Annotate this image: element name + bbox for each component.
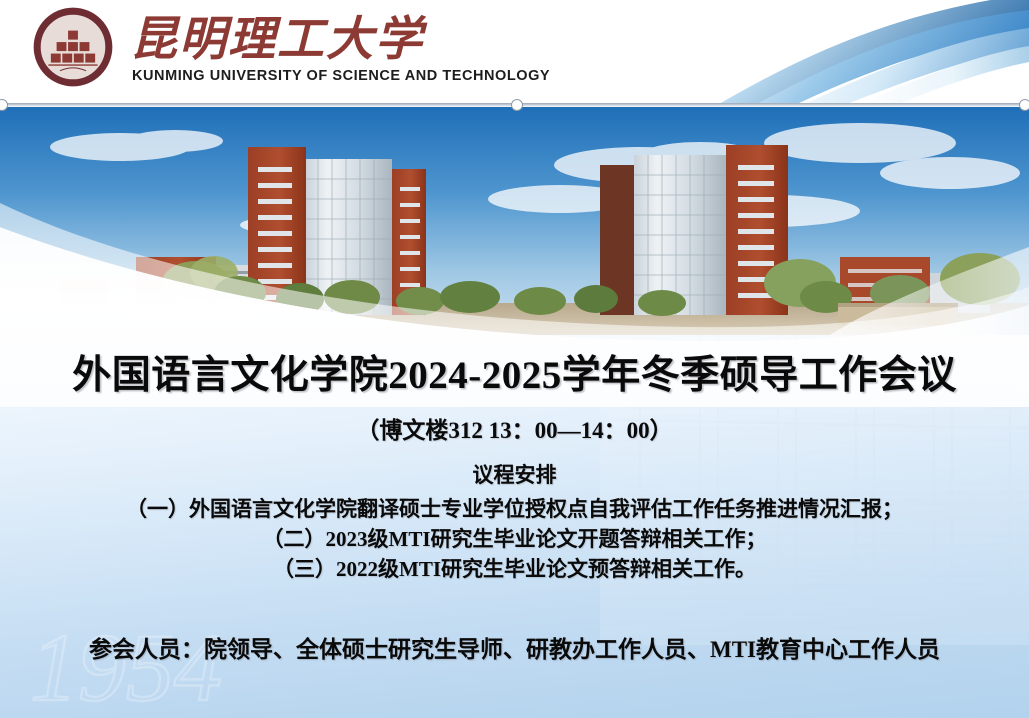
header-ribbon-decoration — [569, 0, 1029, 104]
list-item: （三）2022级MTI研究生毕业论文预答辩相关工作。 — [0, 554, 1029, 584]
university-wordmark: 昆明理工大学 KUNMING UNIVERSITY OF SCIENCE AND… — [124, 10, 550, 84]
university-name-cn-text: 昆明理工大学 — [130, 14, 428, 66]
university-crest-icon — [32, 6, 114, 88]
university-name-en: KUNMING UNIVERSITY OF SCIENCE AND TECHNO… — [132, 68, 550, 84]
university-logo-block: 昆明理工大学 KUNMING UNIVERSITY OF SCIENCE AND… — [32, 6, 550, 88]
list-item: （一）外国语言文化学院翻译硕士专业学位授权点自我评估工作任务推进情况汇报； — [0, 494, 1029, 524]
attendees-line: 参会人员：院领导、全体硕士研究生导师、研教办工作人员、MTI教育中心工作人员 — [0, 630, 1029, 664]
eyelet-right-icon — [1019, 99, 1029, 111]
agenda-heading: 议程安排 — [0, 459, 1029, 489]
campus-photo-banner — [0, 107, 1029, 335]
presentation-slide: 图 馆 1954 — [0, 0, 1029, 718]
page-title: 外国语言文化学院2024-2025学年冬季硕导工作会议 — [0, 344, 1029, 400]
slide-header: 昆明理工大学 KUNMING UNIVERSITY OF SCIENCE AND… — [0, 0, 1029, 104]
agenda-list: （一）外国语言文化学院翻译硕士专业学位授权点自我评估工作任务推进情况汇报； （二… — [0, 494, 1029, 584]
meeting-venue-time: （博文楼312 13：00—14：00） — [0, 411, 1029, 445]
university-name-cn: 昆明理工大学 — [130, 10, 458, 66]
eyelet-center-icon — [511, 99, 523, 111]
list-item: （二）2023级MTI研究生毕业论文开题答辩相关工作； — [0, 524, 1029, 554]
